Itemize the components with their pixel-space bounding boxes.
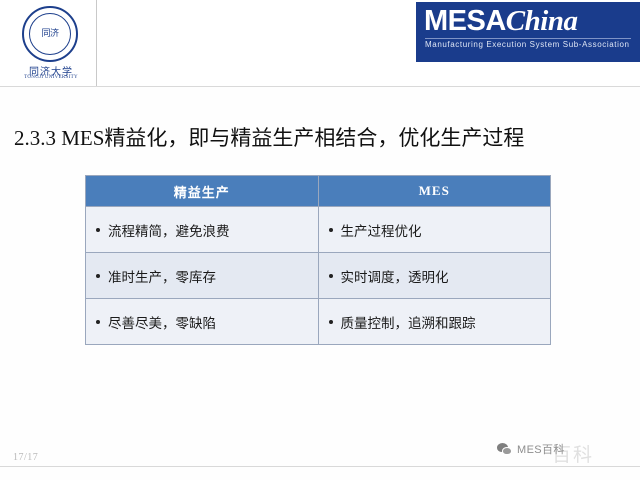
comparison-table: 精益生产 MES 流程精简，避免浪费 生产过程优化 xyxy=(85,175,551,345)
bullet-icon xyxy=(96,228,100,232)
mesa-word: MESA xyxy=(424,5,506,37)
slide: 同济 同济大学 TONGJI UNIVERSITY MESAChina Manu… xyxy=(0,0,640,480)
table-cell-mes-3: 质量控制，追溯和跟踪 xyxy=(318,299,551,345)
table-header-row: 精益生产 MES xyxy=(86,176,551,207)
table-cell-text: 质量控制，追溯和跟踪 xyxy=(341,312,476,332)
table-row: 尽善尽美，零缺陷 质量控制，追溯和跟踪 xyxy=(86,299,551,345)
table-cell-lean-1: 流程精简，避免浪费 xyxy=(86,207,319,253)
university-logo: 同济 同济大学 TONGJI UNIVERSITY xyxy=(8,4,94,84)
mesa-subtitle: Manufacturing Execution System Sub-Assoc… xyxy=(425,40,630,49)
table-cell-text: 流程精简，避免浪费 xyxy=(108,220,230,240)
wechat-badge: MES百科 xyxy=(497,441,565,457)
table-cell-lean-3: 尽善尽美，零缺陷 xyxy=(86,299,319,345)
university-seal-icon: 同济 xyxy=(22,6,78,62)
china-word: China xyxy=(506,5,578,37)
table-cell-text: 实时调度，透明化 xyxy=(341,266,449,286)
bullet-icon xyxy=(329,320,333,324)
page-number: 17/17 xyxy=(13,452,38,463)
wechat-label: MES百科 xyxy=(517,441,565,457)
table-cell-mes-2: 实时调度，透明化 xyxy=(318,253,551,299)
table-cell-text: 准时生产，零库存 xyxy=(108,266,216,286)
table-header-lean: 精益生产 xyxy=(86,176,319,207)
table-cell-text: 尽善尽美，零缺陷 xyxy=(108,312,216,332)
table-header-mes: MES xyxy=(318,176,551,207)
bullet-icon xyxy=(329,274,333,278)
bullet-icon xyxy=(96,274,100,278)
table-cell-lean-2: 准时生产，零库存 xyxy=(86,253,319,299)
mesa-china-logo: MESAChina Manufacturing Execution System… xyxy=(416,2,640,62)
header-rule xyxy=(0,86,640,87)
wechat-icon xyxy=(497,443,512,456)
table-row: 准时生产，零库存 实时调度，透明化 xyxy=(86,253,551,299)
table-row: 流程精简，避免浪费 生产过程优化 xyxy=(86,207,551,253)
slide-header-band: 同济 同济大学 TONGJI UNIVERSITY MESAChina Manu… xyxy=(0,0,640,86)
table-cell-mes-1: 生产过程优化 xyxy=(318,207,551,253)
slide-title: 2.3.3 MES精益化，即与精益生产相结合，优化生产过程 xyxy=(14,122,634,152)
footer-rule xyxy=(0,466,640,467)
bullet-icon xyxy=(96,320,100,324)
university-seal-text: 同济 xyxy=(24,8,76,60)
mesa-logo-underline xyxy=(425,38,631,39)
table-cell-text: 生产过程优化 xyxy=(341,220,422,240)
university-name-en: TONGJI UNIVERSITY xyxy=(10,75,92,80)
bullet-icon xyxy=(329,228,333,232)
mesa-wordmark: MESAChina xyxy=(424,5,577,38)
header-divider xyxy=(96,0,97,86)
